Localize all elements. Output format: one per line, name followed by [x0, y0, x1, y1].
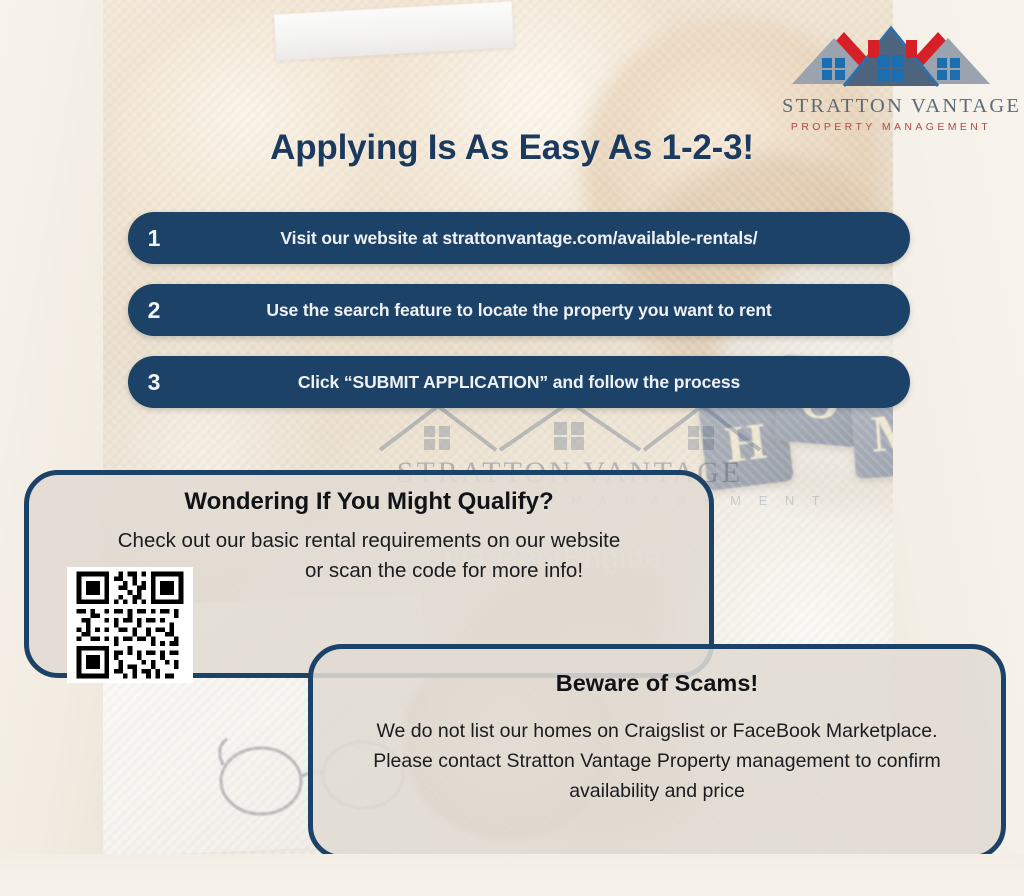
- step-label: Visit our website at strattonvantage.com…: [180, 228, 910, 249]
- page-title: Applying Is As Easy As 1-2-3!: [0, 128, 1024, 168]
- qualify-title: Wondering If You Might Qualify?: [29, 475, 709, 516]
- bottom-margin-band: [0, 854, 1024, 896]
- step-number: 2: [128, 297, 180, 324]
- brand-logo: STRATTON VANTAGE PROPERTY MANAGEMENT: [782, 18, 1000, 133]
- step-label: Click “SUBMIT APPLICATION” and follow th…: [180, 372, 910, 393]
- qualify-line-1: Check out our basic rental requirements …: [29, 516, 709, 556]
- poster-canvas: H O M E: [0, 0, 1024, 896]
- scams-line-1: We do not list our homes on Craigslist o…: [313, 697, 1001, 746]
- scams-line-3: availability and price: [313, 776, 1001, 806]
- step-item-1[interactable]: 1 Visit our website at strattonvantage.c…: [128, 212, 910, 264]
- step-number: 3: [128, 369, 180, 396]
- step-label: Use the search feature to locate the pro…: [180, 300, 910, 321]
- step-number: 1: [128, 225, 180, 252]
- logo-company-name: STRATTON VANTAGE: [782, 95, 1000, 118]
- steps-list: 1 Visit our website at strattonvantage.c…: [128, 212, 910, 428]
- scams-title: Beware of Scams!: [313, 649, 1001, 697]
- step-item-2[interactable]: 2 Use the search feature to locate the p…: [128, 284, 910, 336]
- scams-line-2: Please contact Stratton Vantage Property…: [313, 746, 1001, 776]
- step-item-3[interactable]: 3 Click “SUBMIT APPLICATION” and follow …: [128, 356, 910, 408]
- house-roofs-icon: [782, 18, 1000, 94]
- qr-code[interactable]: [67, 567, 193, 683]
- scams-callout-box: Beware of Scams! We do not list our home…: [308, 644, 1006, 860]
